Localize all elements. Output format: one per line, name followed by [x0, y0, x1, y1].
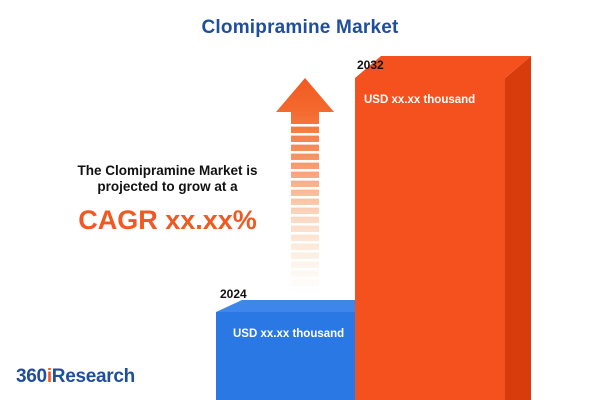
bar-2032-year-label: 2032 [357, 58, 384, 72]
bar-2032-side [505, 56, 531, 400]
logo-suffix: Research [52, 366, 135, 387]
statement-line-2: projected to grow at a [60, 179, 275, 195]
chart-canvas: Clomipramine Market The Clomipramine Mar… [0, 0, 600, 400]
logo-prefix: 360 [16, 366, 47, 387]
growth-arrow-icon [274, 78, 336, 293]
statement-line-1: The Clomipramine Market is [60, 163, 275, 179]
bar-2032-value-label: USD xx.xx thousand [364, 94, 475, 106]
cagr-value: CAGR xx.xx% [60, 205, 275, 235]
page-title: Clomipramine Market [0, 17, 600, 39]
bar-2024-front [216, 312, 366, 400]
bar-2024-year-label: 2024 [220, 287, 247, 301]
bar-2032-overlap [355, 312, 505, 400]
bar-2024-value-label: USD xx.xx thousand [233, 328, 344, 340]
growth-statement: The Clomipramine Market is projected to … [60, 163, 275, 235]
brand-logo: 360iResearch [16, 366, 135, 388]
